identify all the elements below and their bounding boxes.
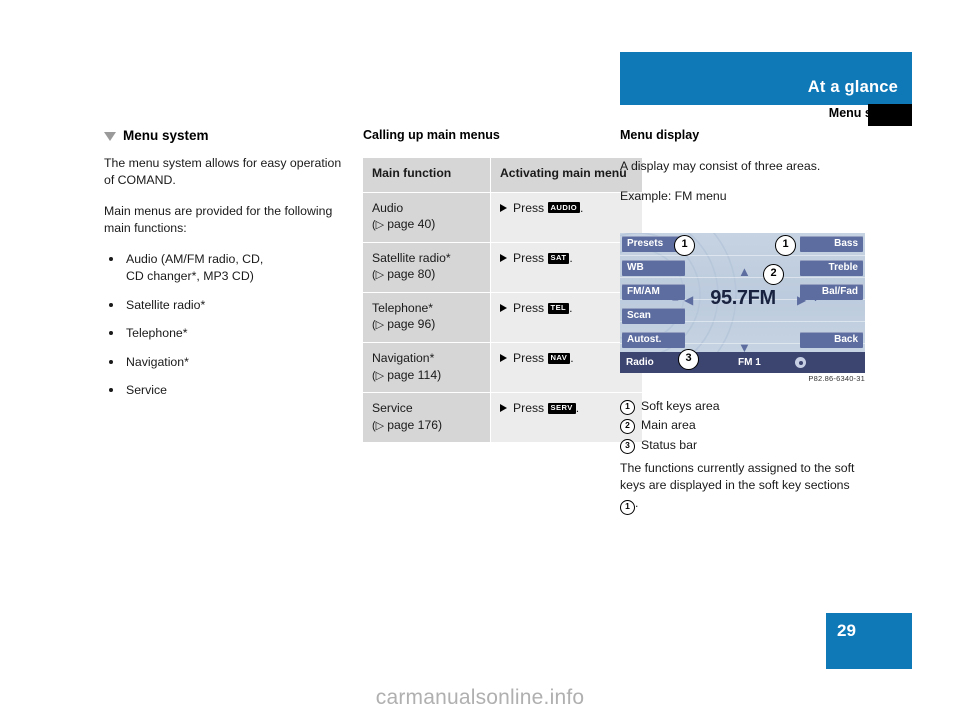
list-item: Satellite radio*	[104, 297, 354, 314]
hardkey-badge[interactable]: NAV	[548, 353, 571, 364]
page-ref-arrow-icon: (▷	[372, 319, 387, 331]
section-heading: Menu system	[104, 128, 354, 143]
list-item: Audio (AM/FM radio, CD, CD changer*, MP3…	[104, 251, 354, 286]
callout-2: 2	[763, 264, 784, 285]
status-band-label: FM 1	[738, 357, 761, 368]
function-label: Telephone*	[372, 301, 433, 315]
table-body: Audio (▷ page 40) Press AUDIO. Satellite…	[363, 192, 642, 442]
softkey-back[interactable]: Back	[800, 332, 863, 348]
comand-display-figure: Presets WB FM/AM Scan Autost. Bass Trebl…	[620, 233, 865, 373]
page-ref: page 114	[387, 368, 437, 382]
closing-text-after: .	[635, 496, 638, 510]
arrow-up-icon: ▲	[738, 265, 751, 278]
function-label: Audio	[372, 201, 403, 215]
callout-1-left: 1	[674, 235, 695, 256]
header-blue-bar: At a glance	[620, 52, 912, 102]
chapter-tab-marker	[868, 104, 912, 126]
closing-paragraph: The functions currently assigned to the …	[620, 460, 868, 515]
display-scanline	[620, 255, 865, 256]
minus-sign-icon: –	[672, 293, 679, 305]
menu-display-paragraph-1: A display may consist of three areas.	[620, 158, 868, 175]
callout-1-right: 1	[775, 235, 796, 256]
left-column: Menu system The menu system allows for e…	[104, 128, 354, 411]
page-ref: page 80	[387, 267, 431, 281]
figure-code: P82.86-6340-31	[620, 374, 865, 383]
page-ref-arrow-icon: (▷	[372, 269, 387, 281]
press-label: Press	[513, 201, 544, 215]
list-item: Service	[104, 382, 354, 399]
main-functions-list: Audio (AM/FM radio, CD, CD changer*, MP3…	[104, 251, 354, 400]
softkey-treble[interactable]: Treble	[800, 260, 863, 276]
page-ref-arrow-icon: (▷	[372, 219, 387, 231]
softkey-scan[interactable]: Scan	[622, 308, 685, 324]
press-label: Press	[513, 251, 544, 265]
table-row: Telephone* (▷ page 96) Press TEL.	[363, 293, 642, 343]
page-ref: page 40	[387, 217, 431, 231]
cell-function: Satellite radio* (▷ page 80)	[363, 243, 491, 293]
menu-display-heading: Menu display	[620, 128, 868, 144]
list-item-label: Service	[126, 383, 167, 397]
table-row: Navigation* (▷ page 114) Press NAV.	[363, 343, 642, 393]
display-status-bar: Radio FM 1	[620, 352, 865, 373]
list-item-label: Audio (AM/FM radio, CD, CD changer*, MP3…	[126, 252, 263, 283]
hardkey-badge[interactable]: SERV	[548, 403, 576, 414]
middle-column: Calling up main menus Main function Acti…	[363, 128, 605, 443]
page-ref-arrow-icon: (▷	[372, 370, 387, 382]
legend-label: Status bar	[641, 437, 697, 454]
page-ref: page 96	[387, 317, 431, 331]
softkey-bal-fad[interactable]: Bal/Fad	[800, 284, 863, 300]
table-heading: Calling up main menus	[363, 128, 605, 144]
legend-item: 2 Main area	[620, 417, 868, 434]
status-source-label: Radio	[626, 357, 654, 368]
intro-paragraph-2: Main menus are provided for the followin…	[104, 203, 354, 238]
plus-sign-icon: +	[812, 292, 819, 304]
list-item: Navigation*	[104, 354, 354, 371]
press-label: Press	[513, 351, 544, 365]
column-header-function: Main function	[363, 158, 491, 193]
softkey-wb[interactable]: WB	[622, 260, 685, 276]
section-heading-label: Menu system	[123, 128, 209, 143]
action-triangle-icon	[500, 404, 507, 412]
legend-number: 2	[620, 419, 635, 434]
page-number: 29	[837, 621, 856, 641]
table-row: Audio (▷ page 40) Press AUDIO.	[363, 192, 642, 242]
action-triangle-icon	[500, 254, 507, 262]
radio-frequency-value: 95.7FM	[698, 287, 788, 310]
table-header-row: Main function Activating main menu	[363, 158, 642, 193]
closing-text-before: The functions currently assigned to the …	[620, 461, 854, 492]
closing-paragraph-wrapper: The functions currently assigned to the …	[620, 460, 868, 528]
intro-paragraph-1: The menu system allows for easy operatio…	[104, 155, 354, 190]
arrow-left-icon: ◀	[684, 294, 693, 306]
action-triangle-icon	[500, 204, 507, 212]
legend-item: 3 Status bar	[620, 437, 868, 454]
arrow-right-icon: ▶	[797, 294, 806, 306]
cell-function: Telephone* (▷ page 96)	[363, 293, 491, 343]
hardkey-badge[interactable]: SAT	[548, 253, 570, 264]
triangle-bullet-icon	[104, 132, 116, 141]
action-triangle-icon	[500, 304, 507, 312]
table-row: Satellite radio* (▷ page 80) Press SAT.	[363, 243, 642, 293]
hardkey-badge[interactable]: AUDIO	[548, 202, 580, 213]
function-label: Satellite radio*	[372, 251, 451, 265]
status-indicator-icon	[795, 357, 806, 368]
list-item-label: Telephone*	[126, 326, 188, 340]
list-item-label: Satellite radio*	[126, 298, 205, 312]
cell-function: Navigation* (▷ page 114)	[363, 343, 491, 393]
menu-display-paragraph-2: Example: FM menu	[620, 188, 868, 205]
function-label: Navigation*	[372, 351, 434, 365]
manual-page: At a glance Menu system Menu system The …	[0, 0, 960, 720]
cell-function: Service (▷ page 176)	[363, 393, 491, 443]
list-item-label: Navigation*	[126, 355, 189, 369]
softkey-autostore[interactable]: Autost.	[622, 332, 685, 348]
page-title: At a glance	[808, 78, 898, 97]
main-menus-table: Main function Activating main menu Audio…	[363, 158, 642, 444]
table-row: Service (▷ page 176) Press SERV.	[363, 393, 642, 443]
callout-3: 3	[678, 349, 699, 370]
page-number-box: 29	[826, 613, 912, 669]
softkey-bass[interactable]: Bass	[800, 236, 863, 252]
legend-label: Soft keys area	[641, 398, 720, 415]
page-ref: page 176	[387, 418, 438, 432]
site-watermark: carmanualsonline.info	[0, 686, 960, 710]
list-item: Telephone*	[104, 325, 354, 342]
legend-label: Main area	[641, 417, 696, 434]
press-label: Press	[513, 301, 544, 315]
page-ref-arrow-icon: (▷	[372, 420, 387, 432]
legend-item: 1 Soft keys area	[620, 398, 868, 415]
cell-function: Audio (▷ page 40)	[363, 192, 491, 242]
figure-legend: 1 Soft keys area 2 Main area 3 Status ba…	[620, 398, 868, 456]
legend-number: 3	[620, 439, 635, 454]
right-column: Menu display A display may consist of th…	[620, 128, 868, 219]
hardkey-badge[interactable]: TEL	[548, 303, 570, 314]
action-triangle-icon	[500, 354, 507, 362]
legend-number-inline: 1	[620, 500, 635, 515]
press-label: Press	[513, 401, 544, 415]
legend-number: 1	[620, 400, 635, 415]
function-label: Service	[372, 401, 413, 415]
